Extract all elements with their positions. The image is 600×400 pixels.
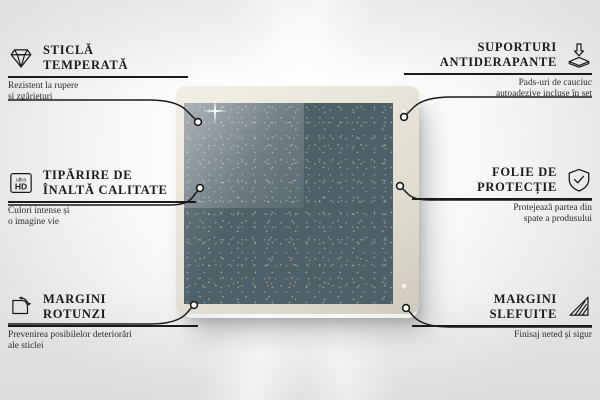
feature-rounded-edges: MARGINI ROTUNZI Prevenirea posibilelor d… (8, 292, 198, 353)
infographic-canvas: STICLĂ TEMPERATĂ Rezistent la rupere și … (0, 0, 600, 400)
pad-stack-arrow-icon (566, 42, 592, 68)
board-frame (176, 86, 419, 314)
divider (412, 198, 592, 200)
product-image (176, 86, 419, 314)
feature-title: TIPĂRIRE DE (43, 168, 168, 183)
ultra-hd-icon: ultra HD (8, 170, 34, 196)
feature-title: ÎNALTĂ CALITATE (43, 183, 168, 198)
feature-title: STICLĂ (43, 43, 128, 58)
hatched-triangle-icon (566, 294, 592, 320)
feature-protective-film: FOLIE DE PROTECȚIE Protejează partea din… (412, 165, 592, 226)
feature-title: SLEFUITE (490, 307, 557, 322)
svg-text:HD: HD (15, 181, 27, 191)
divider (404, 73, 592, 75)
feature-title: ROTUNZI (43, 307, 106, 322)
feature-desc: și zgârieturi (8, 92, 188, 104)
feature-desc: spate a produsului (412, 214, 592, 226)
diamond-icon (8, 45, 34, 71)
feature-title: TEMPERATĂ (43, 58, 128, 73)
rounded-corner-icon (8, 294, 34, 320)
feature-title: MARGINI (490, 292, 557, 307)
feature-title: PROTECȚIE (477, 180, 557, 195)
feature-title: ANTIDERAPANTE (440, 55, 557, 70)
feature-desc: Protejează partea din (412, 203, 592, 215)
divider (8, 76, 188, 78)
feature-high-quality-print: ultra HD TIPĂRIRE DE ÎNALTĂ CALITATE Cul… (8, 168, 196, 229)
feature-title: SUPORTURI (440, 40, 557, 55)
feature-desc: Culori intense și (8, 206, 196, 218)
anti-slip-pad (401, 283, 408, 290)
board-artwork (184, 103, 393, 304)
feature-title: FOLIE DE (477, 165, 557, 180)
anti-slip-pad (401, 108, 408, 115)
divider (8, 201, 196, 203)
feature-desc: autoadezive incluse în set (404, 89, 592, 101)
feature-desc: Pads-uri de cauciuc (404, 78, 592, 90)
feature-title: MARGINI (43, 292, 106, 307)
feature-desc: Prevenirea posibilelor deteriorări (8, 330, 198, 342)
divider (8, 325, 198, 327)
feature-desc: ale sticlei (8, 341, 198, 353)
feature-anti-slip-supports: SUPORTURI ANTIDERAPANTE Pads-uri de cauc… (404, 40, 592, 101)
feature-polished-edges: MARGINI SLEFUITE Finisaj neted și sigur (412, 292, 592, 341)
feature-desc: Finisaj neted și sigur (412, 330, 592, 342)
divider (412, 325, 592, 327)
feature-desc: Rezistent la rupere (8, 81, 188, 93)
feature-tempered-glass: STICLĂ TEMPERATĂ Rezistent la rupere și … (8, 43, 188, 104)
feature-desc: o imagine vie (8, 217, 196, 229)
shield-check-icon (566, 167, 592, 193)
